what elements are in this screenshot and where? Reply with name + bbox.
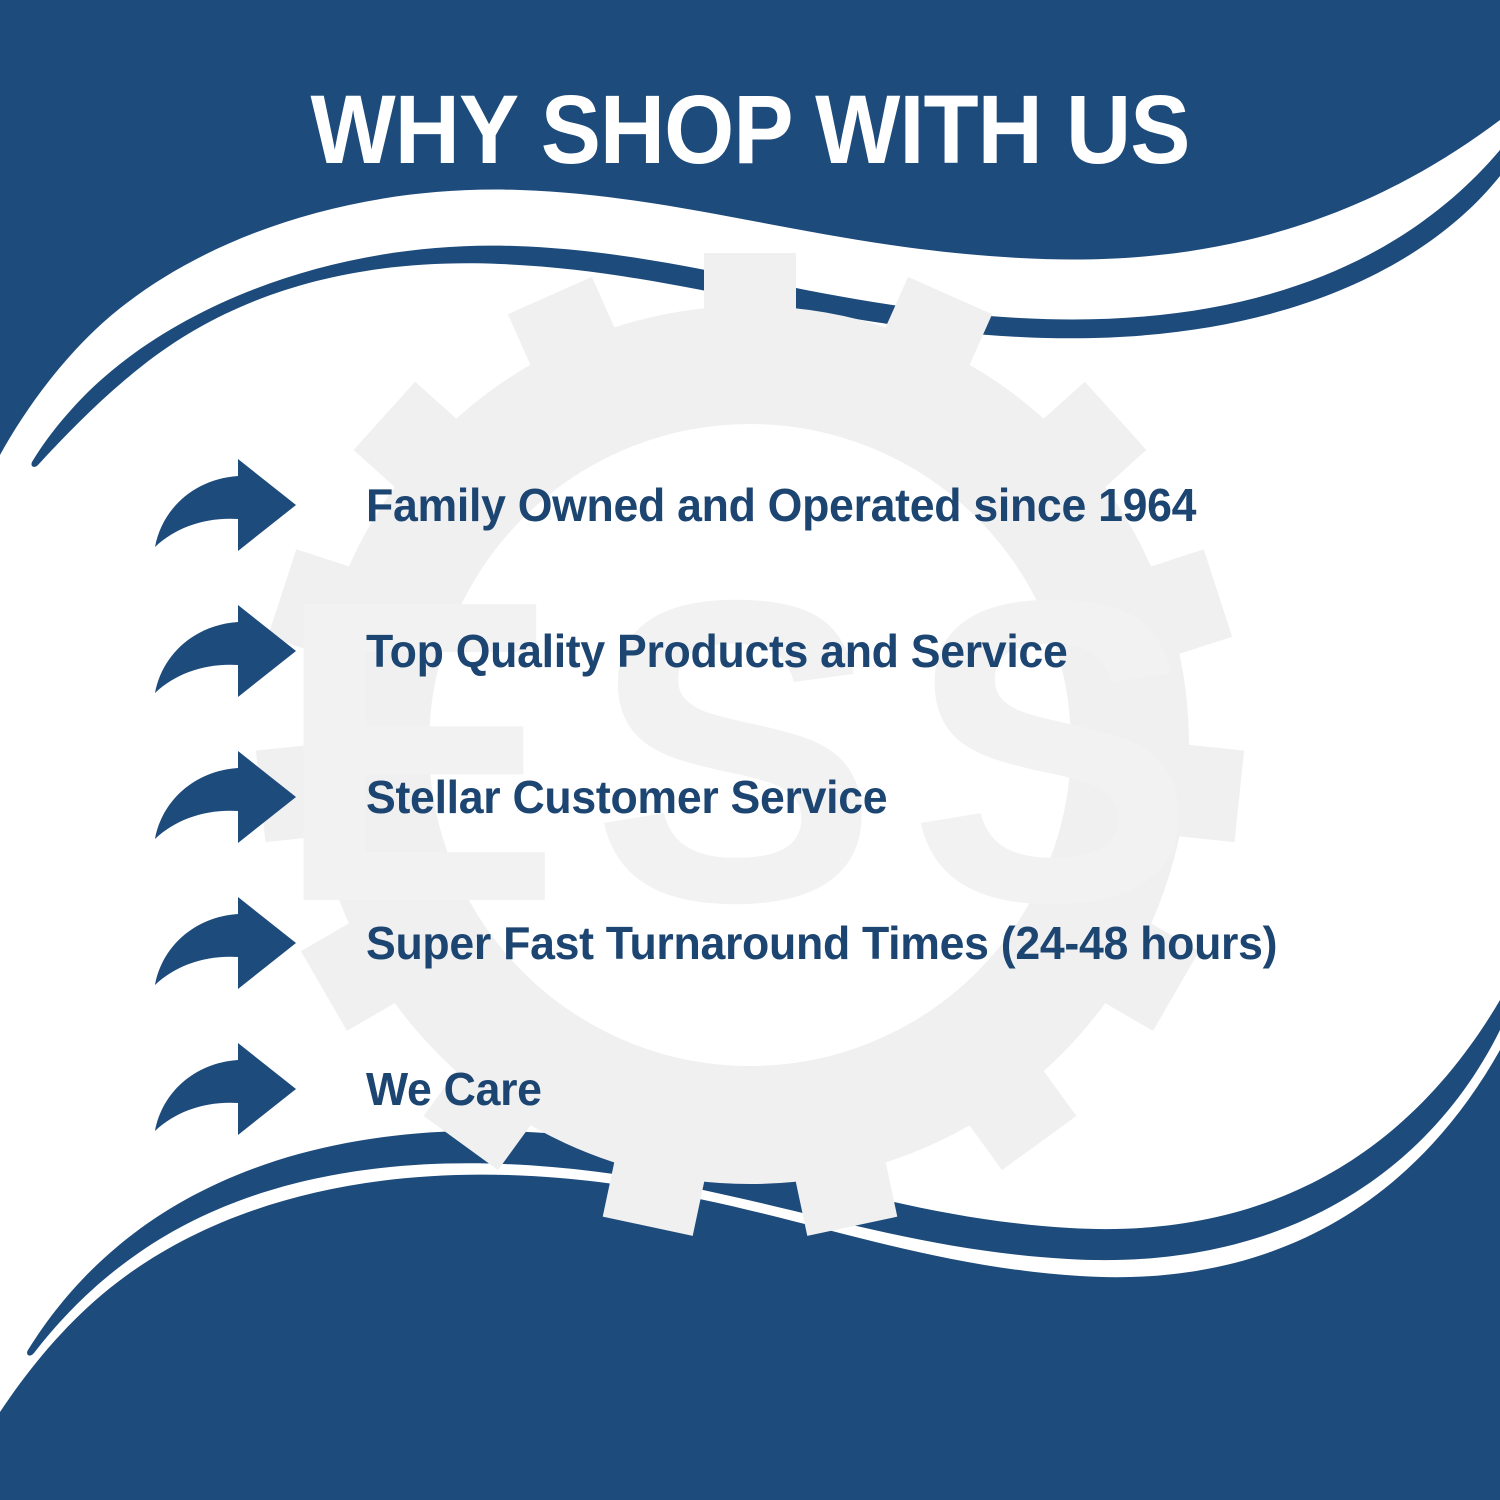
list-item: Family Owned and Operated since 1964 — [150, 432, 1450, 578]
list-item: Super Fast Turnaround Times (24-48 hours… — [150, 870, 1450, 1016]
list-item-label: Family Owned and Operated since 1964 — [366, 480, 1196, 531]
list-item: Stellar Customer Service — [150, 724, 1450, 870]
list-item: We Care — [150, 1016, 1450, 1162]
list-item-label: Super Fast Turnaround Times (24-48 hours… — [366, 918, 1277, 969]
list-item-label: We Care — [366, 1064, 542, 1115]
promo-graphic: ESS WHY SHOP WITH US Family Owned and Op… — [0, 0, 1500, 1500]
curved-arrow-right-icon — [150, 1041, 300, 1137]
curved-arrow-right-icon — [150, 603, 300, 699]
page-title: WHY SHOP WITH US — [53, 79, 1448, 181]
list-item: Top Quality Products and Service — [150, 578, 1450, 724]
curved-arrow-right-icon — [150, 895, 300, 991]
curved-arrow-right-icon — [150, 749, 300, 845]
list-item-label: Top Quality Products and Service — [366, 626, 1067, 677]
list-item-label: Stellar Customer Service — [366, 772, 887, 823]
curved-arrow-right-icon — [150, 457, 300, 553]
benefits-list: Family Owned and Operated since 1964 Top… — [150, 432, 1450, 1162]
